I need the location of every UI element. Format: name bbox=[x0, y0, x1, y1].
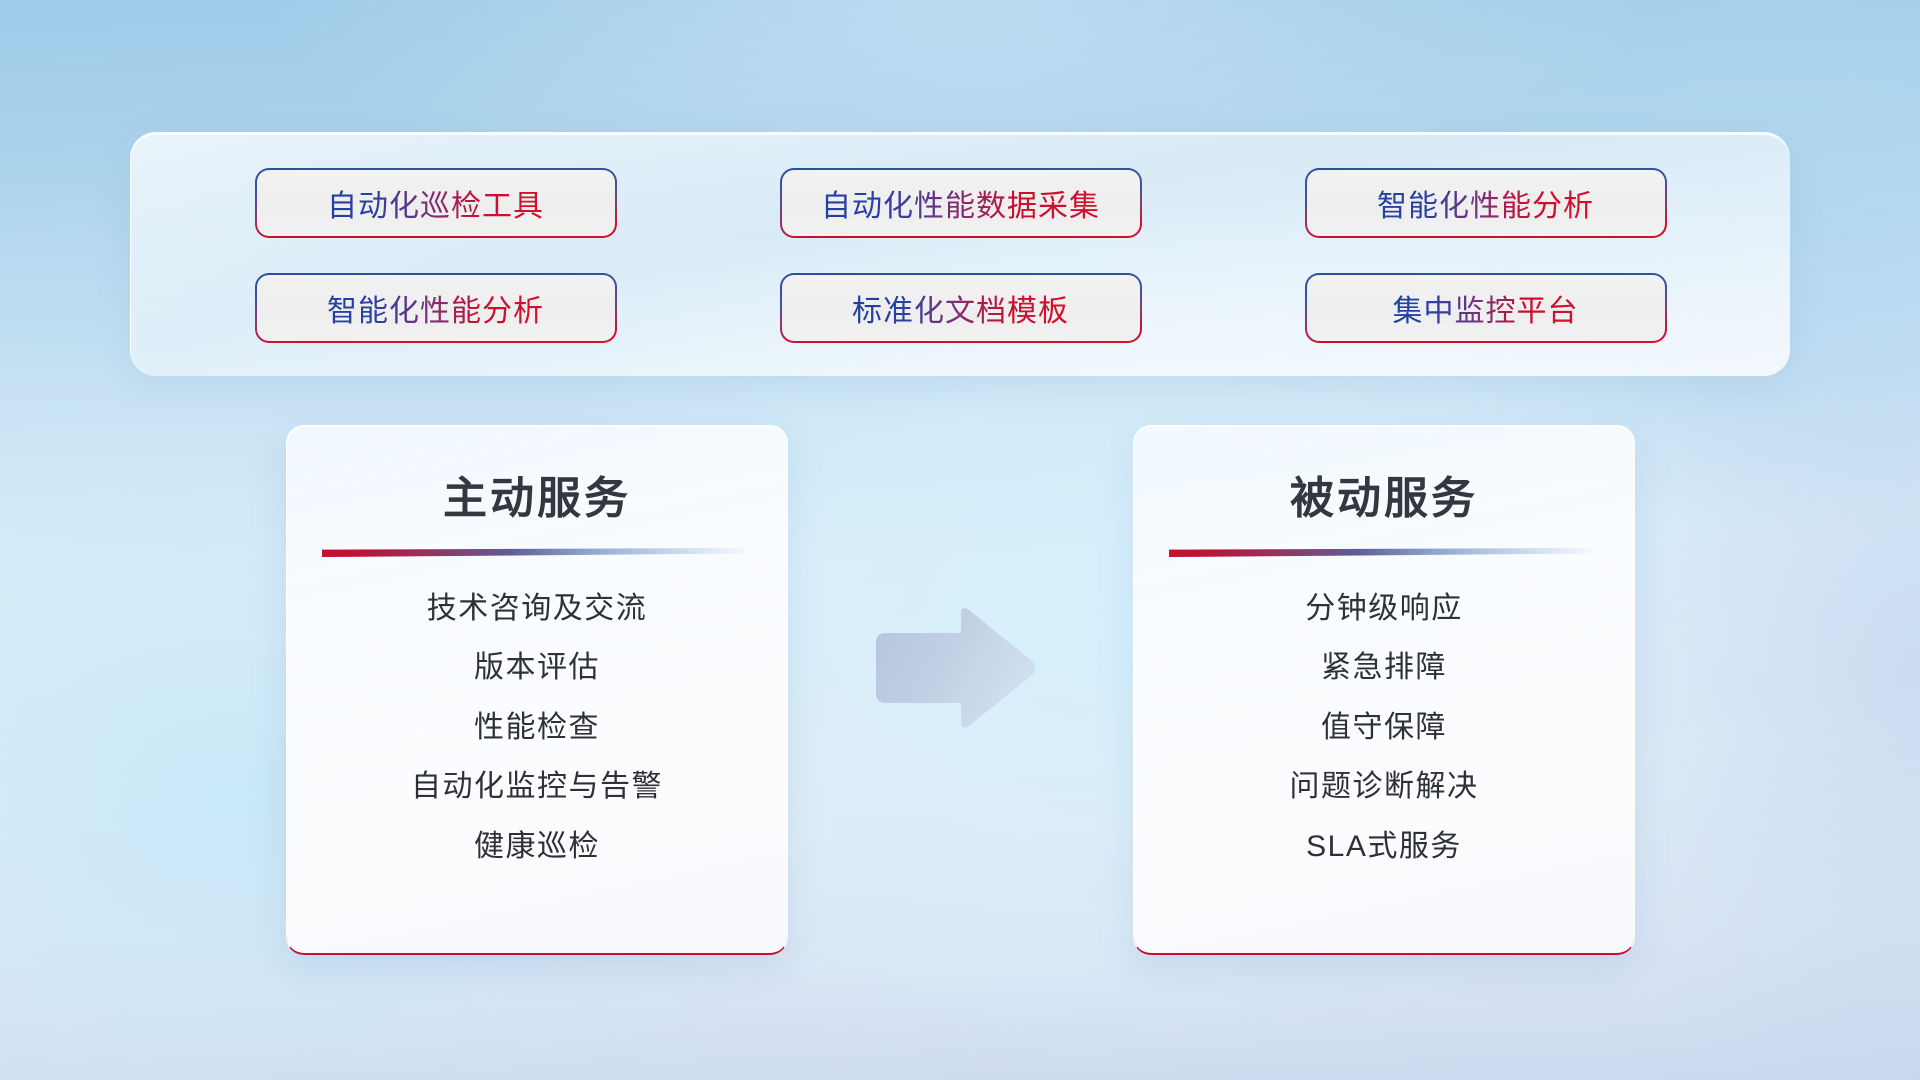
service-card-title: 被动服务 bbox=[1168, 462, 1600, 526]
service-item: 问题诊断解决 bbox=[1168, 769, 1600, 804]
capability-tag[interactable]: 智能化性能分析 bbox=[257, 275, 615, 341]
capability-tag-label: 自动化性能数据采集 bbox=[821, 181, 1100, 225]
capability-tag[interactable]: 智能化性能分析 bbox=[1307, 170, 1665, 236]
service-card-proactive: 主动服务 技术咨询及交流 版本评估 性能检查 自动化监控与告警 健康巡检 bbox=[286, 425, 788, 955]
capability-tag-label: 集中监控平台 bbox=[1393, 286, 1579, 330]
capability-tag[interactable]: 自动化巡检工具 bbox=[257, 170, 615, 236]
service-item: 值守保障 bbox=[1168, 710, 1600, 745]
service-card-title: 主动服务 bbox=[321, 462, 753, 526]
infographic-stage: 自动化巡检工具 自动化性能数据采集 智能化性能分析 智能化性能分析 标准化文档模… bbox=[0, 0, 1920, 1080]
right-arrow-icon bbox=[866, 605, 1038, 731]
service-item: SLA式服务 bbox=[1168, 829, 1600, 864]
capability-tag[interactable]: 集中监控平台 bbox=[1307, 275, 1665, 341]
service-item: 技术咨询及交流 bbox=[321, 591, 753, 626]
capability-tag-label: 自动化巡检工具 bbox=[327, 181, 544, 225]
service-item-list: 技术咨询及交流 版本评估 性能检查 自动化监控与告警 健康巡检 bbox=[321, 591, 753, 864]
service-item: 版本评估 bbox=[321, 650, 753, 685]
service-item: 自动化监控与告警 bbox=[321, 769, 753, 804]
capability-tag[interactable]: 自动化性能数据采集 bbox=[782, 170, 1140, 236]
capability-tag-label: 智能化性能分析 bbox=[327, 286, 544, 330]
capability-tag-label: 标准化文档模板 bbox=[852, 286, 1069, 330]
capability-tag[interactable]: 标准化文档模板 bbox=[782, 275, 1140, 341]
service-item: 性能检查 bbox=[321, 710, 753, 745]
title-divider bbox=[322, 548, 752, 557]
flow-connector bbox=[866, 605, 1038, 731]
service-card-reactive: 被动服务 分钟级响应 紧急排障 值守保障 问题诊断解决 SLA式服务 bbox=[1133, 425, 1635, 955]
service-item: 紧急排障 bbox=[1168, 650, 1600, 685]
capability-tag-label: 智能化性能分析 bbox=[1377, 181, 1594, 225]
title-divider bbox=[1169, 548, 1599, 557]
service-item: 健康巡检 bbox=[321, 829, 753, 864]
service-item: 分钟级响应 bbox=[1168, 591, 1600, 626]
service-item-list: 分钟级响应 紧急排障 值守保障 问题诊断解决 SLA式服务 bbox=[1168, 591, 1600, 864]
capability-tags-panel: 自动化巡检工具 自动化性能数据采集 智能化性能分析 智能化性能分析 标准化文档模… bbox=[130, 132, 1790, 376]
